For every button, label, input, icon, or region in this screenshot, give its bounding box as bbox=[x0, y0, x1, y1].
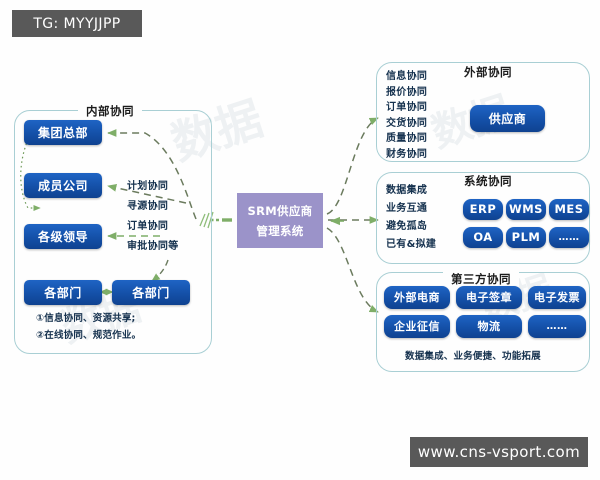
external-list-item: 订单协同 bbox=[386, 103, 427, 113]
system-list-item: 业务互通 bbox=[386, 204, 436, 214]
node-erp[interactable]: ERP bbox=[463, 199, 503, 220]
external-item-list: 信息协同 报价协同 订单协同 交货协同 质量协同 财务协同 bbox=[386, 72, 427, 160]
panel-external-title: 外部协同 bbox=[456, 64, 520, 80]
srm-line-1: SRM供应商 bbox=[248, 203, 313, 219]
node-electronic-seal[interactable]: 电子签章 bbox=[456, 286, 522, 309]
external-list-item: 质量协同 bbox=[386, 134, 427, 144]
internal-note-1: ①信息协同、资源共享; bbox=[36, 312, 136, 326]
panel-internal-title: 内部协同 bbox=[78, 103, 142, 119]
node-thirdparty-more[interactable]: …… bbox=[528, 315, 586, 338]
node-member-company[interactable]: 成员公司 bbox=[24, 173, 102, 198]
node-external-ecommerce[interactable]: 外部电商 bbox=[384, 286, 450, 309]
internal-label-item: 计划协同 bbox=[127, 182, 179, 192]
node-supplier[interactable]: 供应商 bbox=[470, 105, 545, 132]
node-department-right[interactable]: 各部门 bbox=[112, 280, 190, 305]
node-mes[interactable]: MES bbox=[549, 199, 589, 220]
thirdparty-caption: 数据集成、业务便捷、功能拓展 bbox=[405, 348, 541, 362]
internal-label-item: 寻源协同 bbox=[127, 202, 179, 212]
panel-thirdparty-title: 第三方协同 bbox=[443, 271, 519, 287]
external-list-item: 交货协同 bbox=[386, 119, 427, 129]
system-list-item: 已有&拟建 bbox=[386, 240, 436, 250]
system-list-item: 避免孤岛 bbox=[386, 222, 436, 232]
node-group-hq[interactable]: 集团总部 bbox=[24, 120, 102, 145]
external-list-item: 报价协同 bbox=[386, 88, 427, 98]
node-oa[interactable]: OA bbox=[463, 227, 503, 248]
internal-label-item: 审批协同等 bbox=[127, 242, 179, 252]
website-watermark-tag: www.cns-vsport.com bbox=[410, 437, 588, 467]
node-enterprise-credit[interactable]: 企业征信 bbox=[384, 315, 450, 338]
node-wms[interactable]: WMS bbox=[506, 199, 546, 220]
diagram-canvas: 数据 数据 数据 数据 bbox=[0, 0, 600, 480]
node-srm-system[interactable]: SRM供应商 管理系统 bbox=[237, 193, 323, 248]
srm-line-2: 管理系统 bbox=[256, 223, 303, 239]
external-list-item: 财务协同 bbox=[386, 150, 427, 160]
system-item-list: 数据集成 业务互通 避免孤岛 已有&拟建 bbox=[386, 186, 436, 250]
node-system-more[interactable]: …… bbox=[549, 227, 589, 248]
internal-middle-labels: 计划协同 寻源协同 订单协同 审批协同等 bbox=[127, 182, 179, 252]
node-department-left[interactable]: 各部门 bbox=[24, 280, 102, 305]
connector-center-to-thirdparty bbox=[327, 228, 378, 312]
node-electronic-invoice[interactable]: 电子发票 bbox=[528, 286, 586, 309]
panel-system-title: 系统协同 bbox=[456, 173, 520, 189]
node-leaders[interactable]: 各级领导 bbox=[24, 224, 102, 249]
internal-label-item: 订单协同 bbox=[127, 222, 179, 232]
internal-note-2: ②在线协同、规范作业。 bbox=[36, 329, 141, 343]
telegram-tag: TG: MYYJJPP bbox=[12, 10, 142, 37]
node-logistics[interactable]: 物流 bbox=[456, 315, 522, 338]
node-plm[interactable]: PLM bbox=[506, 227, 546, 248]
system-list-item: 数据集成 bbox=[386, 186, 436, 196]
external-list-item: 信息协同 bbox=[386, 72, 427, 82]
connector-center-to-external bbox=[327, 118, 378, 214]
